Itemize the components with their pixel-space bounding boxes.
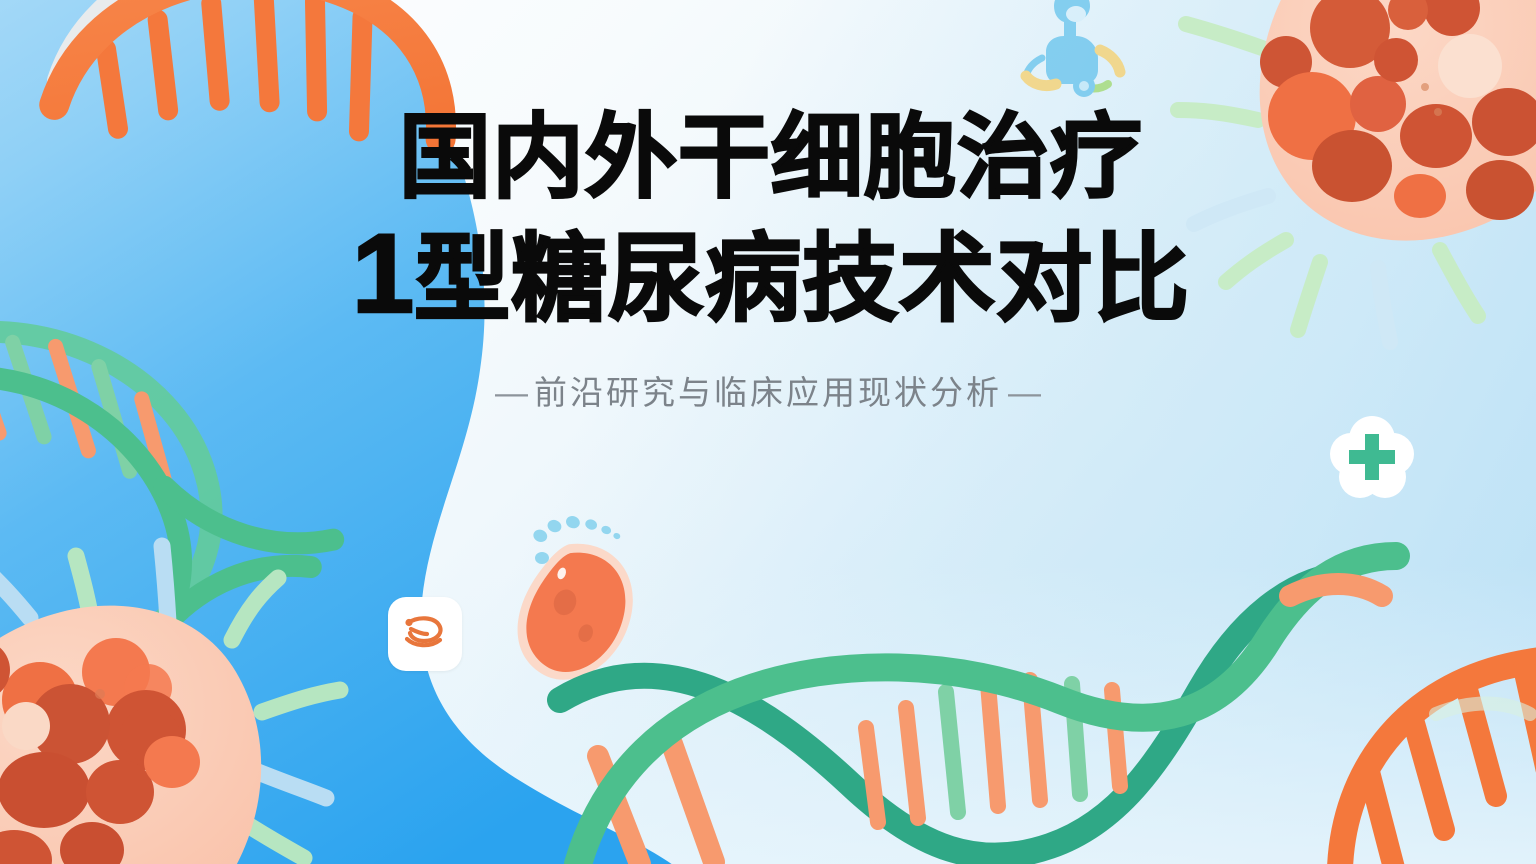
page-subtitle: —前沿研究与临床应用现状分析— [0, 366, 1536, 414]
logo-dot-icon [405, 619, 412, 626]
subtitle-dash-left: — [489, 374, 534, 411]
subtitle-dash-right: — [1002, 374, 1047, 411]
logo-badge[interactable] [388, 597, 462, 671]
subtitle-text: 前沿研究与临床应用现状分析 [534, 374, 1002, 411]
medical-cross-badge[interactable] [1326, 412, 1418, 504]
page-title-line-1: 国内外干细胞治疗 [6, 112, 1536, 204]
title-block: 国内外干细胞治疗 1型糖尿病技术对比 —前沿研究与临床应用现状分析— [0, 112, 1536, 414]
cover-slide: 国内外干细胞治疗 1型糖尿病技术对比 —前沿研究与临床应用现状分析— [0, 0, 1536, 864]
page-title-line-2-text: 型糖尿病技术对比 [414, 226, 1190, 333]
dna-helix-bottom-right [1340, 658, 1536, 864]
page-title-line-2: 1型糖尿病技术对比 [6, 218, 1536, 330]
pancreas-swoosh-logo-icon [398, 607, 452, 661]
page-title-number: 1 [352, 211, 414, 336]
researcher-figure-icon [1026, 0, 1120, 97]
